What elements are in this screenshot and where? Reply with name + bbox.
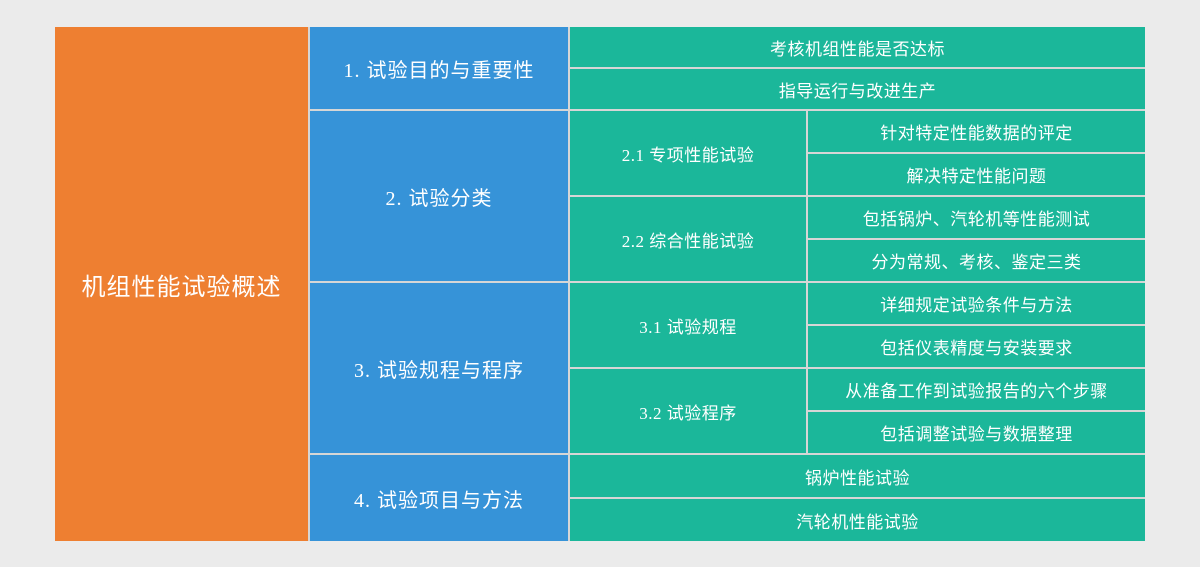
leaf-item[interactable]: 详细规定试验条件与方法	[808, 283, 1145, 326]
leaf-item[interactable]: 解决特定性能问题	[808, 154, 1145, 195]
branch-label-3[interactable]: 3. 试验规程与程序	[310, 283, 570, 453]
leaf-item[interactable]: 针对特定性能数据的评定	[808, 111, 1145, 154]
hierarchy-diagram: 机组性能试验概述 1. 试验目的与重要性 考核机组性能是否达标 指导运行与改进生…	[55, 27, 1145, 541]
branch-section-2: 2. 试验分类 2.1 专项性能试验 针对特定性能数据的评定 解决特定性能问题 …	[310, 111, 1145, 283]
leaf-item[interactable]: 锅炉性能试验	[570, 455, 1145, 499]
sub-group-leaves: 从准备工作到试验报告的六个步骤 包括调整试验与数据整理	[808, 369, 1145, 453]
sub-group-leaves: 包括锅炉、汽轮机等性能测试 分为常规、考核、鉴定三类	[808, 197, 1145, 281]
sub-group-label[interactable]: 2.1 专项性能试验	[570, 111, 808, 195]
sub-group-label[interactable]: 3.2 试验程序	[570, 369, 808, 453]
sub-group-label[interactable]: 2.2 综合性能试验	[570, 197, 808, 281]
leaf-item[interactable]: 包括调整试验与数据整理	[808, 412, 1145, 453]
branch-section-1: 1. 试验目的与重要性 考核机组性能是否达标 指导运行与改进生产	[310, 27, 1145, 111]
sub-group: 3.2 试验程序 从准备工作到试验报告的六个步骤 包括调整试验与数据整理	[570, 369, 1145, 453]
branch-leaves-4: 锅炉性能试验 汽轮机性能试验	[570, 455, 1145, 541]
root-node-title: 机组性能试验概述	[55, 27, 310, 541]
leaf-item[interactable]: 包括锅炉、汽轮机等性能测试	[808, 197, 1145, 240]
sub-group-label[interactable]: 3.1 试验规程	[570, 283, 808, 367]
leaf-item[interactable]: 考核机组性能是否达标	[570, 27, 1145, 69]
sub-group-leaves: 针对特定性能数据的评定 解决特定性能问题	[808, 111, 1145, 195]
branch-leaves-1: 考核机组性能是否达标 指导运行与改进生产	[570, 27, 1145, 109]
leaf-item[interactable]: 从准备工作到试验报告的六个步骤	[808, 369, 1145, 412]
branch-section-3: 3. 试验规程与程序 3.1 试验规程 详细规定试验条件与方法 包括仪表精度与安…	[310, 283, 1145, 455]
branch-label-1[interactable]: 1. 试验目的与重要性	[310, 27, 570, 109]
sub-group: 2.2 综合性能试验 包括锅炉、汽轮机等性能测试 分为常规、考核、鉴定三类	[570, 197, 1145, 281]
branch-section-4: 4. 试验项目与方法 锅炉性能试验 汽轮机性能试验	[310, 455, 1145, 541]
branch-groups-3: 3.1 试验规程 详细规定试验条件与方法 包括仪表精度与安装要求 3.2 试验程…	[570, 283, 1145, 453]
branches-container: 1. 试验目的与重要性 考核机组性能是否达标 指导运行与改进生产 2. 试验分类…	[310, 27, 1145, 541]
branch-label-2[interactable]: 2. 试验分类	[310, 111, 570, 281]
sub-group: 3.1 试验规程 详细规定试验条件与方法 包括仪表精度与安装要求	[570, 283, 1145, 369]
leaf-item[interactable]: 分为常规、考核、鉴定三类	[808, 240, 1145, 281]
sub-group: 2.1 专项性能试验 针对特定性能数据的评定 解决特定性能问题	[570, 111, 1145, 197]
branch-groups-2: 2.1 专项性能试验 针对特定性能数据的评定 解决特定性能问题 2.2 综合性能…	[570, 111, 1145, 281]
leaf-item[interactable]: 汽轮机性能试验	[570, 499, 1145, 541]
leaf-item[interactable]: 指导运行与改进生产	[570, 69, 1145, 109]
branch-label-4[interactable]: 4. 试验项目与方法	[310, 455, 570, 541]
leaf-item[interactable]: 包括仪表精度与安装要求	[808, 326, 1145, 367]
sub-group-leaves: 详细规定试验条件与方法 包括仪表精度与安装要求	[808, 283, 1145, 367]
